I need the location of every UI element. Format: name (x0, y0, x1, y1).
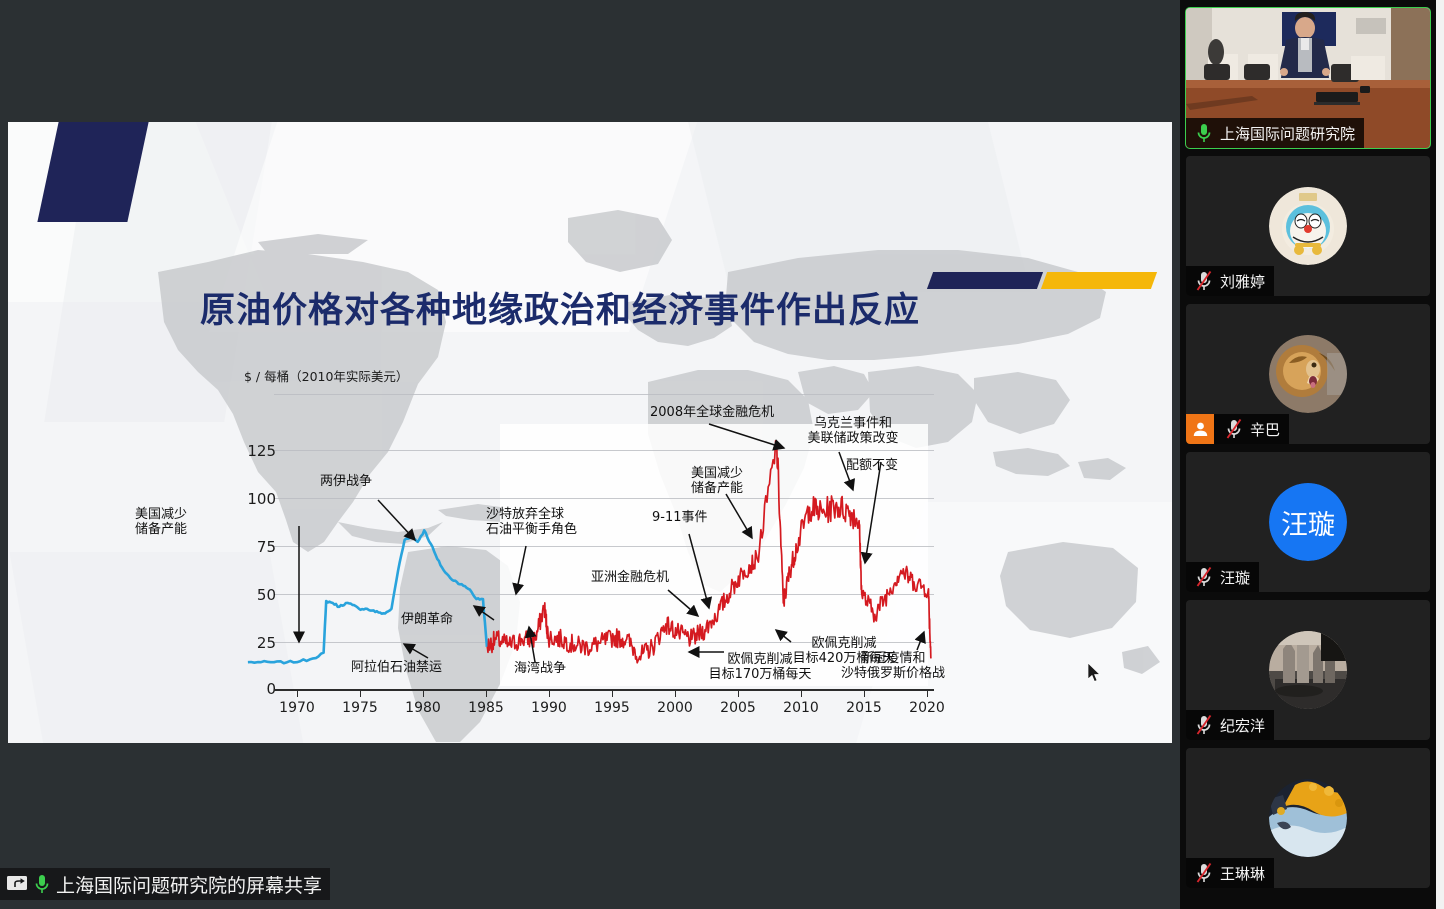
participant-name-bar: 辛巴 (1186, 414, 1289, 444)
x-tick-2010: 2010 (778, 700, 824, 716)
x-tickmark (738, 691, 739, 697)
annotation-asian-financial-crisis: 亚洲金融危机 (591, 570, 669, 585)
avatar: 汪璇 (1269, 483, 1347, 561)
mic-on-icon (1193, 122, 1215, 144)
x-tickmark (801, 691, 802, 697)
participant-tile-xinba[interactable]: 辛巴 (1186, 304, 1430, 444)
x-tick-1985: 1985 (463, 700, 509, 716)
x-tickmark (675, 691, 676, 697)
gridline-50 (274, 594, 934, 595)
avatar (1269, 779, 1347, 857)
annotation-us-spare-capacity-right: 美国减少 储备产能 (673, 466, 761, 496)
x-tickmark (360, 691, 361, 697)
avatar (1269, 187, 1347, 265)
participant-video-strip[interactable]: 上海国际问题研究院 (1180, 0, 1436, 909)
participant-name: 王琳琳 (1220, 863, 1265, 884)
participant-name: 汪璇 (1220, 567, 1250, 588)
x-tick-1975: 1975 (337, 700, 383, 716)
participant-name: 刘雅婷 (1220, 271, 1265, 292)
participant-name-bar: 纪宏洋 (1186, 710, 1274, 740)
participant-name: 上海国际问题研究院 (1220, 123, 1355, 144)
x-tick-1995: 1995 (589, 700, 635, 716)
participant-tile-wanglinlin[interactable]: 王琳琳 (1186, 748, 1430, 888)
screen-share-icon (6, 874, 28, 894)
mic-muted-icon (1223, 418, 1245, 440)
annotation-ukraine-fed: 乌克兰事件和 美联储政策改变 (788, 416, 918, 446)
host-badge-icon (1186, 414, 1214, 444)
annotation-saudi-swing-producer: 沙特放弃全球 石油平衡手角色 (486, 507, 577, 537)
mic-muted-icon (1193, 714, 1215, 736)
x-tick-1990: 1990 (526, 700, 572, 716)
x-tickmark (423, 691, 424, 697)
annotation-quota-unchanged: 配额不变 (846, 458, 898, 473)
x-tick-2015: 2015 (841, 700, 887, 716)
annotation-arab-oil-embargo: 阿拉伯石油禁运 (351, 660, 442, 675)
mic-muted-icon (1193, 862, 1215, 884)
x-tickmark (864, 691, 865, 697)
annotation-covid-price-war: 新冠疫情和 沙特俄罗斯价格战 (826, 651, 960, 681)
avatar (1269, 631, 1347, 709)
annotation-gfc-2008: 2008年全球金融危机 (650, 405, 774, 420)
mouse-cursor (1088, 663, 1102, 683)
participant-name-bar: 刘雅婷 (1186, 266, 1274, 296)
screen-share-status-text: 上海国际问题研究院的屏幕共享 (56, 871, 322, 898)
gridline-125 (274, 450, 934, 451)
y-tick-100: 100 (236, 490, 276, 508)
x-tickmark (297, 691, 298, 697)
x-tickmark (486, 691, 487, 697)
annotation-iran-iraq-war: 两伊战争 (301, 474, 391, 489)
x-tick-1980: 1980 (400, 700, 446, 716)
mic-muted-icon (1193, 270, 1215, 292)
x-tick-2000: 2000 (652, 700, 698, 716)
participant-name: 辛巴 (1250, 419, 1280, 440)
annotation-us-spare-capacity-left: 美国减少 储备产能 (106, 507, 216, 537)
gridline-100 (274, 498, 934, 499)
annotation-gulf-war: 海湾战争 (514, 661, 566, 676)
y-tick-75: 75 (236, 538, 276, 556)
mic-muted-icon (1193, 566, 1215, 588)
shared-screen-area[interactable]: 原油价格对各种地缘政治和经济事件作出反应 $ / 每桶（2010年实际美元） 1… (0, 0, 1180, 909)
x-axis-line (274, 689, 934, 691)
participant-name-bar: 上海国际问题研究院 (1186, 118, 1364, 148)
slide-title: 原油价格对各种地缘政治和经济事件作出反应 (200, 282, 1020, 333)
participant-name-bar: 王琳琳 (1186, 858, 1274, 888)
gridline-top (274, 394, 934, 395)
y-tick-50: 50 (236, 586, 276, 604)
zoom-meeting-window: 原油价格对各种地缘政治和经济事件作出反应 $ / 每桶（2010年实际美元） 1… (0, 0, 1444, 909)
annotation-nine-eleven: 9-11事件 (652, 510, 708, 525)
participant-tile-jihongyang[interactable]: 纪宏洋 (1186, 600, 1430, 740)
presentation-slide: 原油价格对各种地缘政治和经济事件作出反应 $ / 每桶（2010年实际美元） 1… (8, 122, 1172, 743)
x-tickmark (927, 691, 928, 697)
screen-share-status-bar: 上海国际问题研究院的屏幕共享 (0, 868, 330, 900)
x-tickmark (612, 691, 613, 697)
avatar-initials: 汪璇 (1269, 483, 1347, 561)
mic-on-icon (34, 873, 50, 895)
bg-polygon (686, 122, 1031, 292)
y-tick-25: 25 (236, 634, 276, 652)
participant-tile-video[interactable]: 上海国际问题研究院 (1186, 8, 1430, 148)
y-axis-unit-label: $ / 每桶（2010年实际美元） (244, 366, 408, 385)
x-tick-1970: 1970 (274, 700, 320, 716)
x-tick-2005: 2005 (715, 700, 761, 716)
background-window-edge (1436, 0, 1444, 909)
participant-name-bar: 汪璇 (1186, 562, 1259, 592)
participant-name: 纪宏洋 (1220, 715, 1265, 736)
y-tick-125: 125 (236, 442, 276, 460)
x-tick-2020: 2020 (904, 700, 950, 716)
gridline-75 (274, 546, 934, 547)
participant-tile-liuyating[interactable]: 刘雅婷 (1186, 156, 1430, 296)
participant-tile-wangxuan[interactable]: 汪璇 汪璇 (1186, 452, 1430, 592)
y-tick-0: 0 (236, 680, 276, 698)
slide-gold-accent-small (1041, 272, 1157, 289)
annotation-iranian-revolution: 伊朗革命 (401, 612, 453, 627)
x-tickmark (549, 691, 550, 697)
avatar (1269, 335, 1347, 413)
